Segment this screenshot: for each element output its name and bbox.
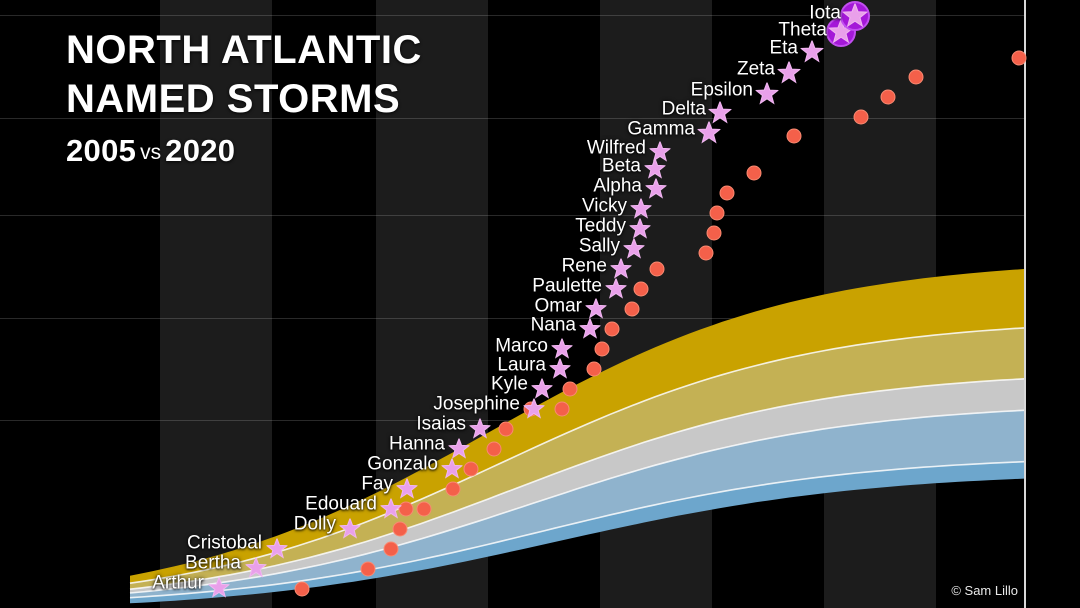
storm-dot-2005 bbox=[295, 582, 310, 597]
storm-dot-2005 bbox=[854, 110, 869, 125]
storm-dot-2005 bbox=[446, 482, 461, 497]
storm-dot-2005 bbox=[384, 542, 399, 557]
storm-star-2020 bbox=[550, 359, 571, 380]
storm-dot-2005 bbox=[720, 186, 735, 201]
storm-dot-2005 bbox=[587, 362, 602, 377]
storm-star-2020 bbox=[209, 578, 230, 599]
storm-name-label: Kyle bbox=[491, 375, 528, 394]
storm-star-2020 bbox=[381, 499, 402, 520]
subtitle-year-b: 2020 bbox=[165, 133, 235, 168]
storm-star-2020 bbox=[340, 519, 361, 540]
storm-dot-2005 bbox=[555, 402, 570, 417]
page-title-line1: NORTH ATLANTIC bbox=[66, 26, 422, 75]
storm-name-label: Gamma bbox=[627, 120, 695, 139]
storm-star-2020 bbox=[630, 219, 651, 240]
storm-star-2020 bbox=[606, 279, 627, 300]
storm-name-label: Rene bbox=[562, 257, 607, 276]
storm-dot-2005 bbox=[605, 322, 620, 337]
storm-dot-2005 bbox=[634, 282, 649, 297]
storm-star-2020 bbox=[397, 479, 418, 500]
subtitle-vs: vs bbox=[136, 141, 165, 164]
storm-name-label: Edouard bbox=[305, 495, 377, 514]
storm-star-2020 bbox=[246, 558, 267, 579]
storm-star-2020 bbox=[778, 62, 801, 85]
storm-dot-2005 bbox=[909, 70, 924, 85]
storm-name-label: Isaias bbox=[416, 415, 466, 434]
storm-name-label: Cristobal bbox=[187, 534, 262, 553]
storm-star-2020 bbox=[611, 259, 632, 280]
storm-name-label: Paulette bbox=[532, 277, 602, 296]
storm-dot-2005 bbox=[563, 382, 578, 397]
storm-name-label: Iota bbox=[809, 4, 841, 23]
storm-star-2020 bbox=[843, 4, 868, 29]
storm-name-label: Arthur bbox=[152, 574, 204, 593]
storm-star-2020 bbox=[267, 539, 288, 560]
storm-name-label: Hanna bbox=[389, 435, 445, 454]
page-title-line2: NAMED STORMS bbox=[66, 75, 422, 124]
storm-dot-2005 bbox=[464, 462, 479, 477]
storm-dot-2005 bbox=[499, 422, 514, 437]
storm-star-2020 bbox=[709, 102, 732, 125]
storm-star-2020 bbox=[646, 179, 667, 200]
storm-dot-2005 bbox=[393, 522, 408, 537]
storm-star-2020 bbox=[524, 399, 545, 420]
storm-name-label: Teddy bbox=[575, 217, 626, 236]
title-block: NORTH ATLANTIC NAMED STORMS 2005vs2020 bbox=[66, 26, 422, 169]
storm-star-2020 bbox=[449, 439, 470, 460]
storm-star-2020 bbox=[442, 459, 463, 480]
storm-name-label: Marco bbox=[495, 337, 548, 356]
storm-star-2020 bbox=[624, 239, 645, 260]
storm-star-2020 bbox=[650, 142, 671, 163]
storm-star-2020 bbox=[756, 83, 779, 106]
storm-dot-2005 bbox=[625, 302, 640, 317]
storm-name-label: Bertha bbox=[185, 554, 241, 573]
storm-name-label: Vicky bbox=[582, 197, 627, 216]
storm-star-2020 bbox=[631, 199, 652, 220]
storm-name-label: Eta bbox=[769, 39, 798, 58]
storm-name-label: Epsilon bbox=[691, 81, 753, 100]
chart-canvas: ArthurBerthaCristobalDollyEdouardFayGonz… bbox=[0, 0, 1080, 608]
storm-name-label: Omar bbox=[535, 297, 583, 316]
subtitle: 2005vs2020 bbox=[66, 133, 422, 169]
storm-dot-2005 bbox=[361, 562, 376, 577]
storm-star-2020 bbox=[698, 122, 721, 145]
storm-name-label: Laura bbox=[497, 356, 546, 375]
subtitle-year-a: 2005 bbox=[66, 133, 136, 168]
storm-dot-2005 bbox=[710, 206, 725, 221]
storm-name-label: Nana bbox=[531, 316, 576, 335]
storm-dot-2005 bbox=[707, 226, 722, 241]
storm-name-label: Alpha bbox=[593, 177, 642, 196]
storm-star-2020 bbox=[801, 41, 824, 64]
storm-star-2020 bbox=[532, 379, 553, 400]
storm-name-label: Beta bbox=[602, 157, 641, 176]
storm-dot-2005 bbox=[881, 90, 896, 105]
storm-dot-2005 bbox=[699, 246, 714, 261]
storm-name-label: Zeta bbox=[737, 60, 775, 79]
storm-dot-2005 bbox=[747, 166, 762, 181]
credit-text: © Sam Lillo bbox=[951, 583, 1018, 598]
storm-dot-2005 bbox=[650, 262, 665, 277]
storm-name-label: Wilfred bbox=[587, 139, 646, 158]
storm-name-label: Fay bbox=[361, 475, 393, 494]
storm-name-label: Gonzalo bbox=[367, 455, 438, 474]
storm-name-label: Dolly bbox=[294, 515, 336, 534]
storm-dot-2005 bbox=[595, 342, 610, 357]
storm-star-2020 bbox=[580, 319, 601, 340]
storm-dot-2005 bbox=[417, 502, 432, 517]
storm-dot-2005 bbox=[487, 442, 502, 457]
storm-dot-2005 bbox=[1012, 51, 1027, 66]
storm-star-2020 bbox=[552, 339, 573, 360]
storm-name-label: Delta bbox=[662, 100, 706, 119]
storm-star-2020 bbox=[586, 299, 607, 320]
storm-name-label: Sally bbox=[579, 237, 620, 256]
storm-name-label: Josephine bbox=[433, 395, 520, 414]
storm-star-2020 bbox=[470, 419, 491, 440]
storm-dot-2005 bbox=[787, 129, 802, 144]
